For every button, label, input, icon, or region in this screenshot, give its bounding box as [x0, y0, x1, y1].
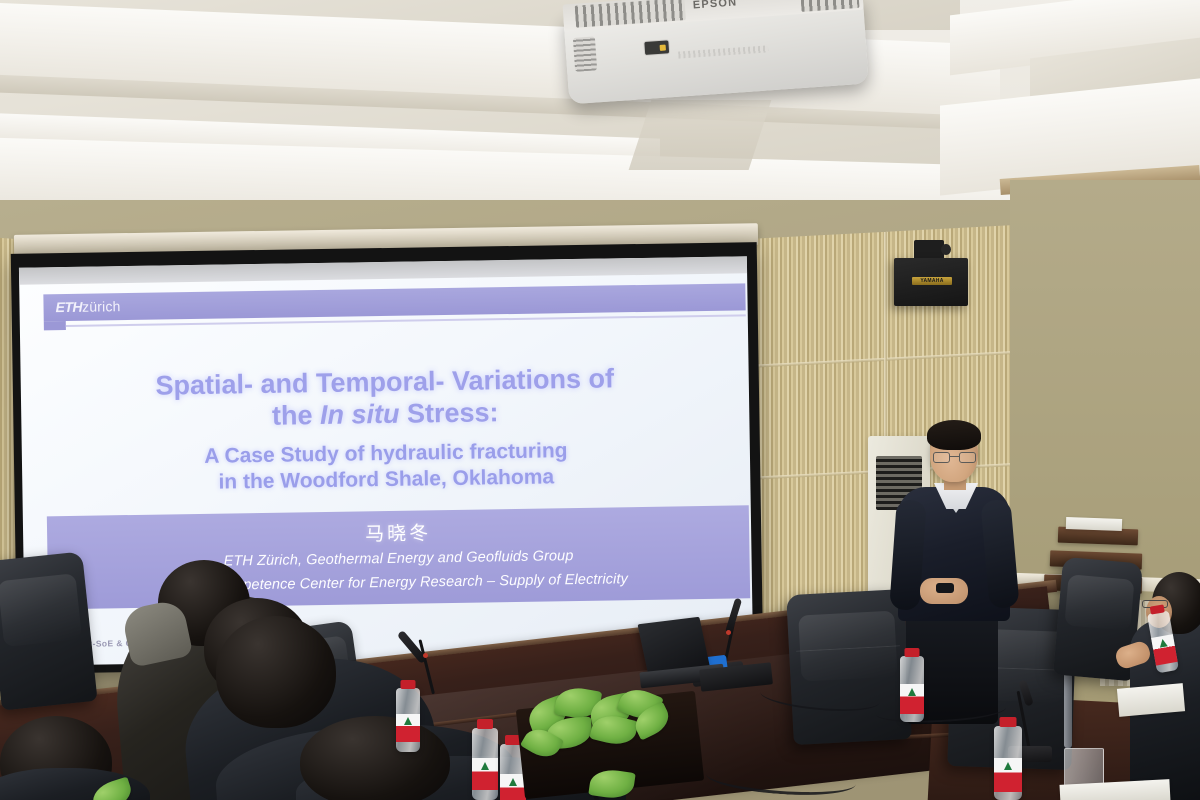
slide-author-bar: 马晓冬 ETH Zürich, Geothermal Energy and Ge… [47, 505, 750, 609]
audience-head-4 [300, 716, 450, 800]
slide-title-block: Spatial- and Temporal- Variations of the… [21, 361, 751, 499]
eyeglasses-icon [933, 452, 976, 463]
ceiling-beam-side [629, 100, 772, 170]
glasses-bridge [950, 456, 959, 457]
shelf-papers [1066, 517, 1122, 531]
bottle-label [994, 758, 1022, 792]
eth-zurich-logo: ETHzürich [55, 298, 120, 315]
title-pre: the [272, 400, 320, 431]
slide-affiliation-2: Swiss Competence Center for Energy Resea… [48, 569, 750, 596]
eth-logo-bold: ETH [55, 299, 82, 315]
projector-sensor-icon [643, 39, 670, 56]
glasses-lens-right [959, 452, 976, 463]
water-bottle-4[interactable] [900, 656, 924, 722]
projector-brand-label: EPSON [692, 0, 737, 11]
title-post: Stress: [399, 397, 499, 429]
projector-side-vent [573, 36, 597, 71]
chair-left[interactable] [786, 589, 912, 745]
water-bottle-2[interactable] [472, 728, 498, 800]
projector-vent-right [800, 0, 859, 12]
bottle-cap [401, 680, 416, 689]
projection-screen-surface: ETHzürich Spatial- and Temporal- Variati… [19, 256, 753, 665]
water-bottle-1[interactable] [396, 688, 420, 752]
bottle-label [396, 714, 420, 742]
bottle-label [900, 684, 924, 714]
water-bottle-5[interactable] [994, 726, 1022, 800]
bottle-label [1151, 634, 1178, 665]
glasses-lens-left [933, 452, 950, 463]
bottle-cap [1150, 604, 1165, 614]
notebook[interactable] [1117, 683, 1185, 717]
conference-room-photo: EPSON YAMAHA ETHzürich [0, 0, 1200, 800]
eth-logo-light: zürich [82, 298, 121, 315]
yamaha-speaker: YAMAHA [894, 258, 968, 306]
speaker-mount-bracket [914, 240, 944, 260]
chair-headrest [794, 595, 900, 651]
bottle-cap [1000, 717, 1017, 727]
speaker-brand-label: YAMAHA [912, 277, 952, 285]
presentation-slide: ETHzürich Spatial- and Temporal- Variati… [19, 273, 753, 665]
audience-head-3 [216, 616, 336, 728]
presenter-hair [927, 420, 981, 450]
bottle-label [472, 758, 498, 790]
slide-header-tab [44, 321, 66, 330]
bottle-cap [477, 719, 493, 729]
microphone-indicator-2 [423, 653, 428, 658]
presentation-clicker[interactable] [936, 583, 954, 593]
slide-author-name: 马晓冬 [47, 513, 749, 551]
bottle-cap [905, 648, 920, 657]
title-italic: In situ [320, 399, 400, 430]
chair-far-left[interactable] [0, 551, 98, 710]
microphone-indicator-1 [726, 630, 731, 635]
